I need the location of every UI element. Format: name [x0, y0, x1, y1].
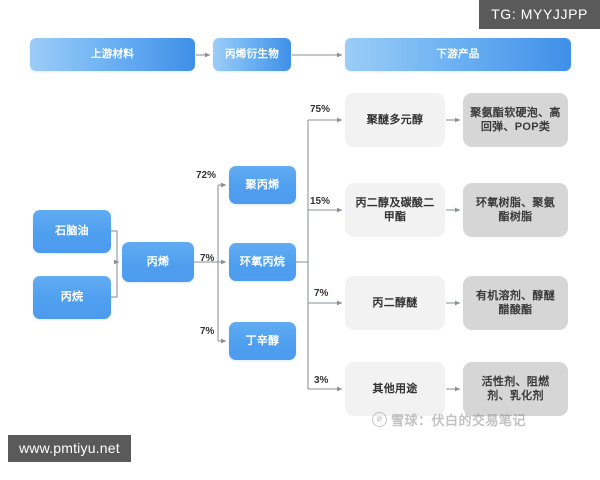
node-naphtha: 石脑油: [33, 210, 111, 253]
diagram-canvas: 上游材料 丙烯衍生物 下游产品 石脑油 丙烷 丙烯 聚丙烯 环氧丙烷 丁辛醇 聚…: [0, 0, 600, 480]
pct-other-uses: 3%: [314, 375, 328, 386]
site-url-watermark-label: www.pmtiyu.net: [19, 440, 120, 456]
telegram-watermark-label: TG: MYYJJPP: [491, 6, 588, 22]
header-derivative-label: 丙烯衍生物: [219, 48, 285, 61]
pct-propylene-glycol-ether: 7%: [314, 288, 328, 299]
node-propylene-glycol-ether: 丙二醇醚: [345, 276, 445, 330]
node-propylene-oxide: 环氧丙烷: [229, 243, 296, 281]
node-pu-foam: 聚氨酯软硬泡、高 回弹、POP类: [463, 93, 568, 147]
node-naphtha-label: 石脑油: [49, 224, 95, 238]
node-organic-solvent-label: 有机溶剂、醇醚 醋酸酯: [470, 289, 561, 317]
node-surfactant: 活性剂、阻燃 剂、乳化剂: [463, 362, 568, 416]
pct-propylene-oxide: 7%: [200, 253, 214, 264]
node-polyether-polyol: 聚醚多元醇: [345, 93, 445, 147]
header-upstream-label: 上游材料: [85, 48, 140, 61]
node-propylene-label: 丙烯: [141, 255, 176, 269]
node-propylene-glycol-dmc: 丙二醇及碳酸二 甲酯: [345, 183, 445, 237]
node-other-uses: 其他用途: [345, 362, 445, 416]
node-epoxy-resin-label: 环氧树脂、聚氨 酯树脂: [470, 196, 561, 224]
header-downstream-products: 下游产品: [345, 38, 571, 71]
node-octanol: 丁辛醇: [229, 322, 296, 360]
node-pu-foam-label: 聚氨酯软硬泡、高 回弹、POP类: [464, 106, 566, 134]
header-upstream-materials: 上游材料: [30, 38, 195, 71]
node-propylene-oxide-label: 环氧丙烷: [234, 255, 291, 269]
node-propane: 丙烷: [33, 276, 111, 319]
header-propylene-derivatives: 丙烯衍生物: [213, 38, 291, 71]
node-polypropylene: 聚丙烯: [229, 166, 296, 204]
node-organic-solvent: 有机溶剂、醇醚 醋酸酯: [463, 276, 568, 330]
xueqiu-watermark: ⌀ 雪球：伏白的交易笔记: [372, 410, 526, 429]
pct-octanol: 7%: [200, 326, 214, 337]
telegram-watermark-badge: TG: MYYJJPP: [479, 0, 600, 29]
wire-propane-trunk: [111, 262, 117, 297]
node-propylene-glycol-dmc-label: 丙二醇及碳酸二 甲酯: [349, 196, 440, 224]
node-surfactant-label: 活性剂、阻燃 剂、乳化剂: [476, 375, 556, 403]
node-propane-label: 丙烷: [55, 290, 90, 304]
xueqiu-watermark-label: 雪球：伏白的交易笔记: [391, 410, 526, 429]
wire-naphtha-trunk: [111, 231, 117, 262]
pct-polypropylene: 72%: [196, 170, 216, 181]
node-polypropylene-label: 聚丙烯: [240, 178, 286, 192]
node-propylene-glycol-ether-label: 丙二醇醚: [366, 296, 423, 310]
xueqiu-logo-icon: ⌀: [372, 412, 387, 427]
node-propylene: 丙烯: [122, 242, 194, 282]
header-downstream-label: 下游产品: [430, 48, 485, 61]
site-url-watermark-badge: www.pmtiyu.net: [8, 435, 131, 462]
pct-polyether-polyol: 75%: [310, 104, 330, 115]
node-polyether-polyol-label: 聚醚多元醇: [361, 113, 430, 127]
node-epoxy-resin: 环氧树脂、聚氨 酯树脂: [463, 183, 568, 237]
node-other-uses-label: 其他用途: [366, 382, 423, 396]
pct-propylene-glycol-dmc: 15%: [310, 196, 330, 207]
node-octanol-label: 丁辛醇: [240, 334, 286, 348]
